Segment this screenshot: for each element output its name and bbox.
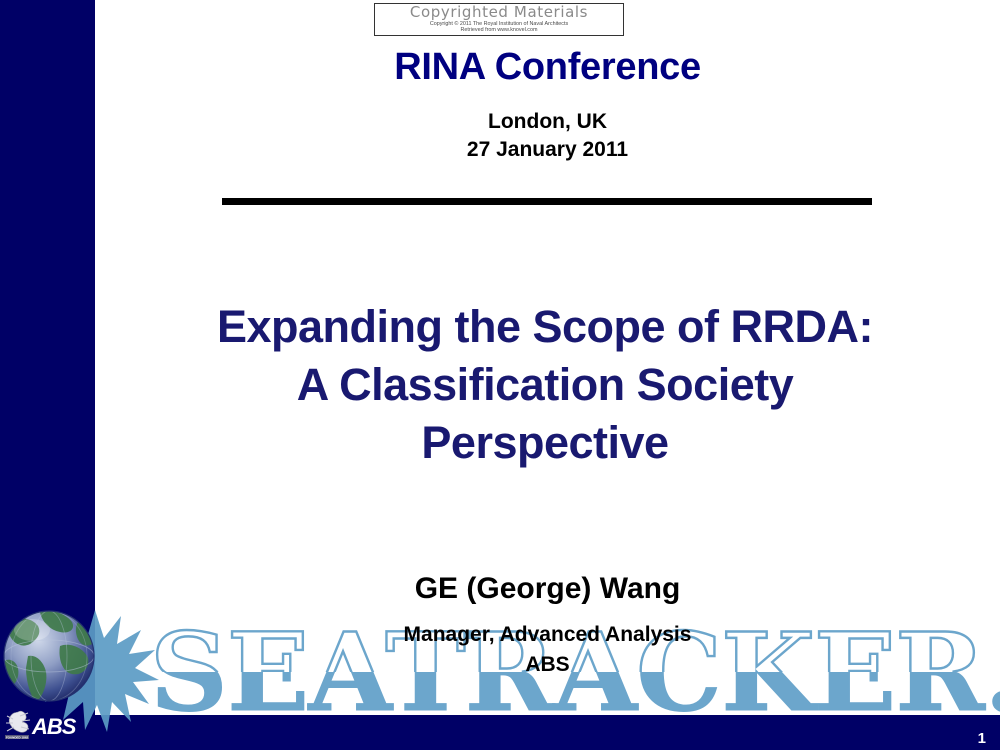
page-title-line-1: Expanding the Scope of RRDA: xyxy=(100,298,990,356)
author-organization: ABS xyxy=(95,652,1000,677)
svg-text:FOUNDED 1862: FOUNDED 1862 xyxy=(6,735,29,739)
copyright-stamp-line2: Retrieved from www.knovel.com xyxy=(375,27,623,33)
footer-bar: 1 xyxy=(0,715,1000,750)
page-title: Expanding the Scope of RRDA: A Classific… xyxy=(100,298,990,472)
page-title-line-2: A Classification Society xyxy=(100,356,990,414)
conference-details: London, UK 27 January 2011 xyxy=(95,108,1000,164)
page-number: 1 xyxy=(978,731,986,746)
abs-logo: FOUNDED 1862 ABS xyxy=(2,706,100,746)
copyright-stamp-title: Copyrighted Materials xyxy=(375,4,623,21)
abs-crest-icon: FOUNDED 1862 xyxy=(5,711,30,739)
page-title-line-3: Perspective xyxy=(100,414,990,472)
conference-date: 27 January 2011 xyxy=(95,136,1000,164)
header-divider-rule xyxy=(222,198,872,205)
author-role: Manager, Advanced Analysis xyxy=(95,622,1000,647)
globe-icon xyxy=(2,604,100,714)
author-name: GE (George) Wang xyxy=(95,572,1000,606)
presentation-slide: Copyrighted Materials Copyright © 2011 T… xyxy=(0,0,1000,750)
conference-location: London, UK xyxy=(95,108,1000,136)
conference-title: RINA Conference xyxy=(95,46,1000,88)
svg-text:ABS: ABS xyxy=(31,714,77,739)
copyright-stamp: Copyrighted Materials Copyright © 2011 T… xyxy=(374,3,624,36)
